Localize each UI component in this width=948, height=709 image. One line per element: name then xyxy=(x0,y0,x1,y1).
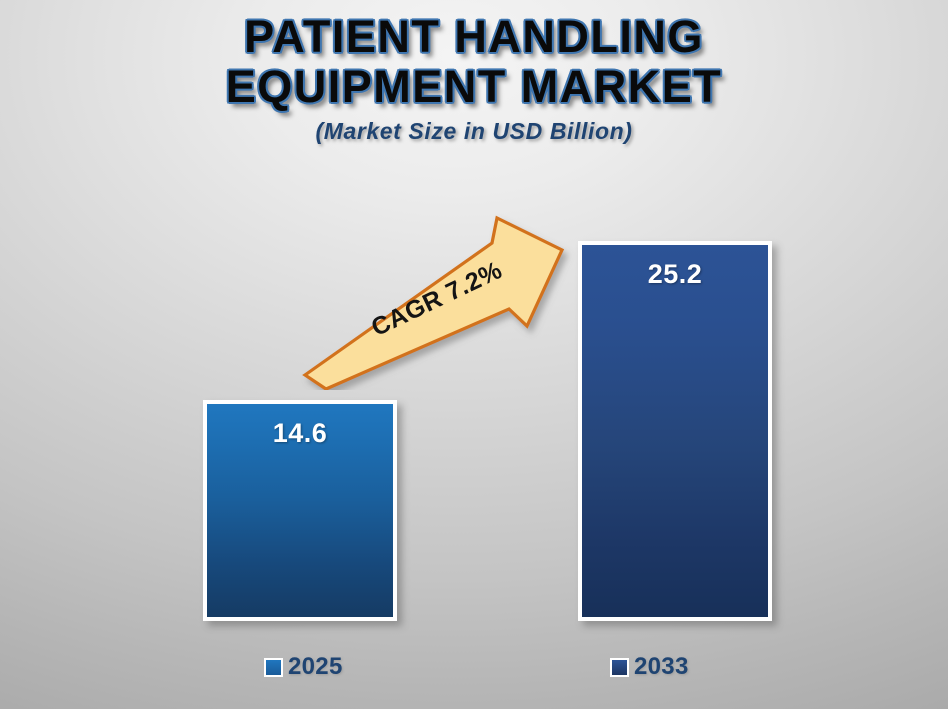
chart-legend: 2025 2033 xyxy=(0,653,948,683)
chart-subtitle: (Market Size in USD Billion) xyxy=(0,118,948,145)
bar-value-2025: 14.6 xyxy=(207,418,393,449)
legend-swatch-2025 xyxy=(264,658,283,677)
chart-title-block: PATIENT HANDLING EQUIPMENT MARKET (Marke… xyxy=(0,12,948,145)
chart-title-line-2: EQUIPMENT MARKET xyxy=(0,62,948,112)
bar-2025: 14.6 xyxy=(203,400,397,621)
legend-label-2033: 2033 xyxy=(634,653,689,681)
legend-label-2025: 2025 xyxy=(288,653,343,681)
bar-value-2033: 25.2 xyxy=(582,259,768,290)
legend-swatch-2033 xyxy=(610,658,629,677)
legend-item-2033[interactable]: 2033 xyxy=(610,653,689,681)
cagr-label: CAGR 7.2% xyxy=(354,250,520,349)
chart-canvas: PATIENT HANDLING EQUIPMENT MARKET (Marke… xyxy=(0,0,948,709)
legend-item-2025[interactable]: 2025 xyxy=(264,653,343,681)
bar-2033: 25.2 xyxy=(578,241,772,621)
chart-title-line-1: PATIENT HANDLING xyxy=(0,12,948,62)
